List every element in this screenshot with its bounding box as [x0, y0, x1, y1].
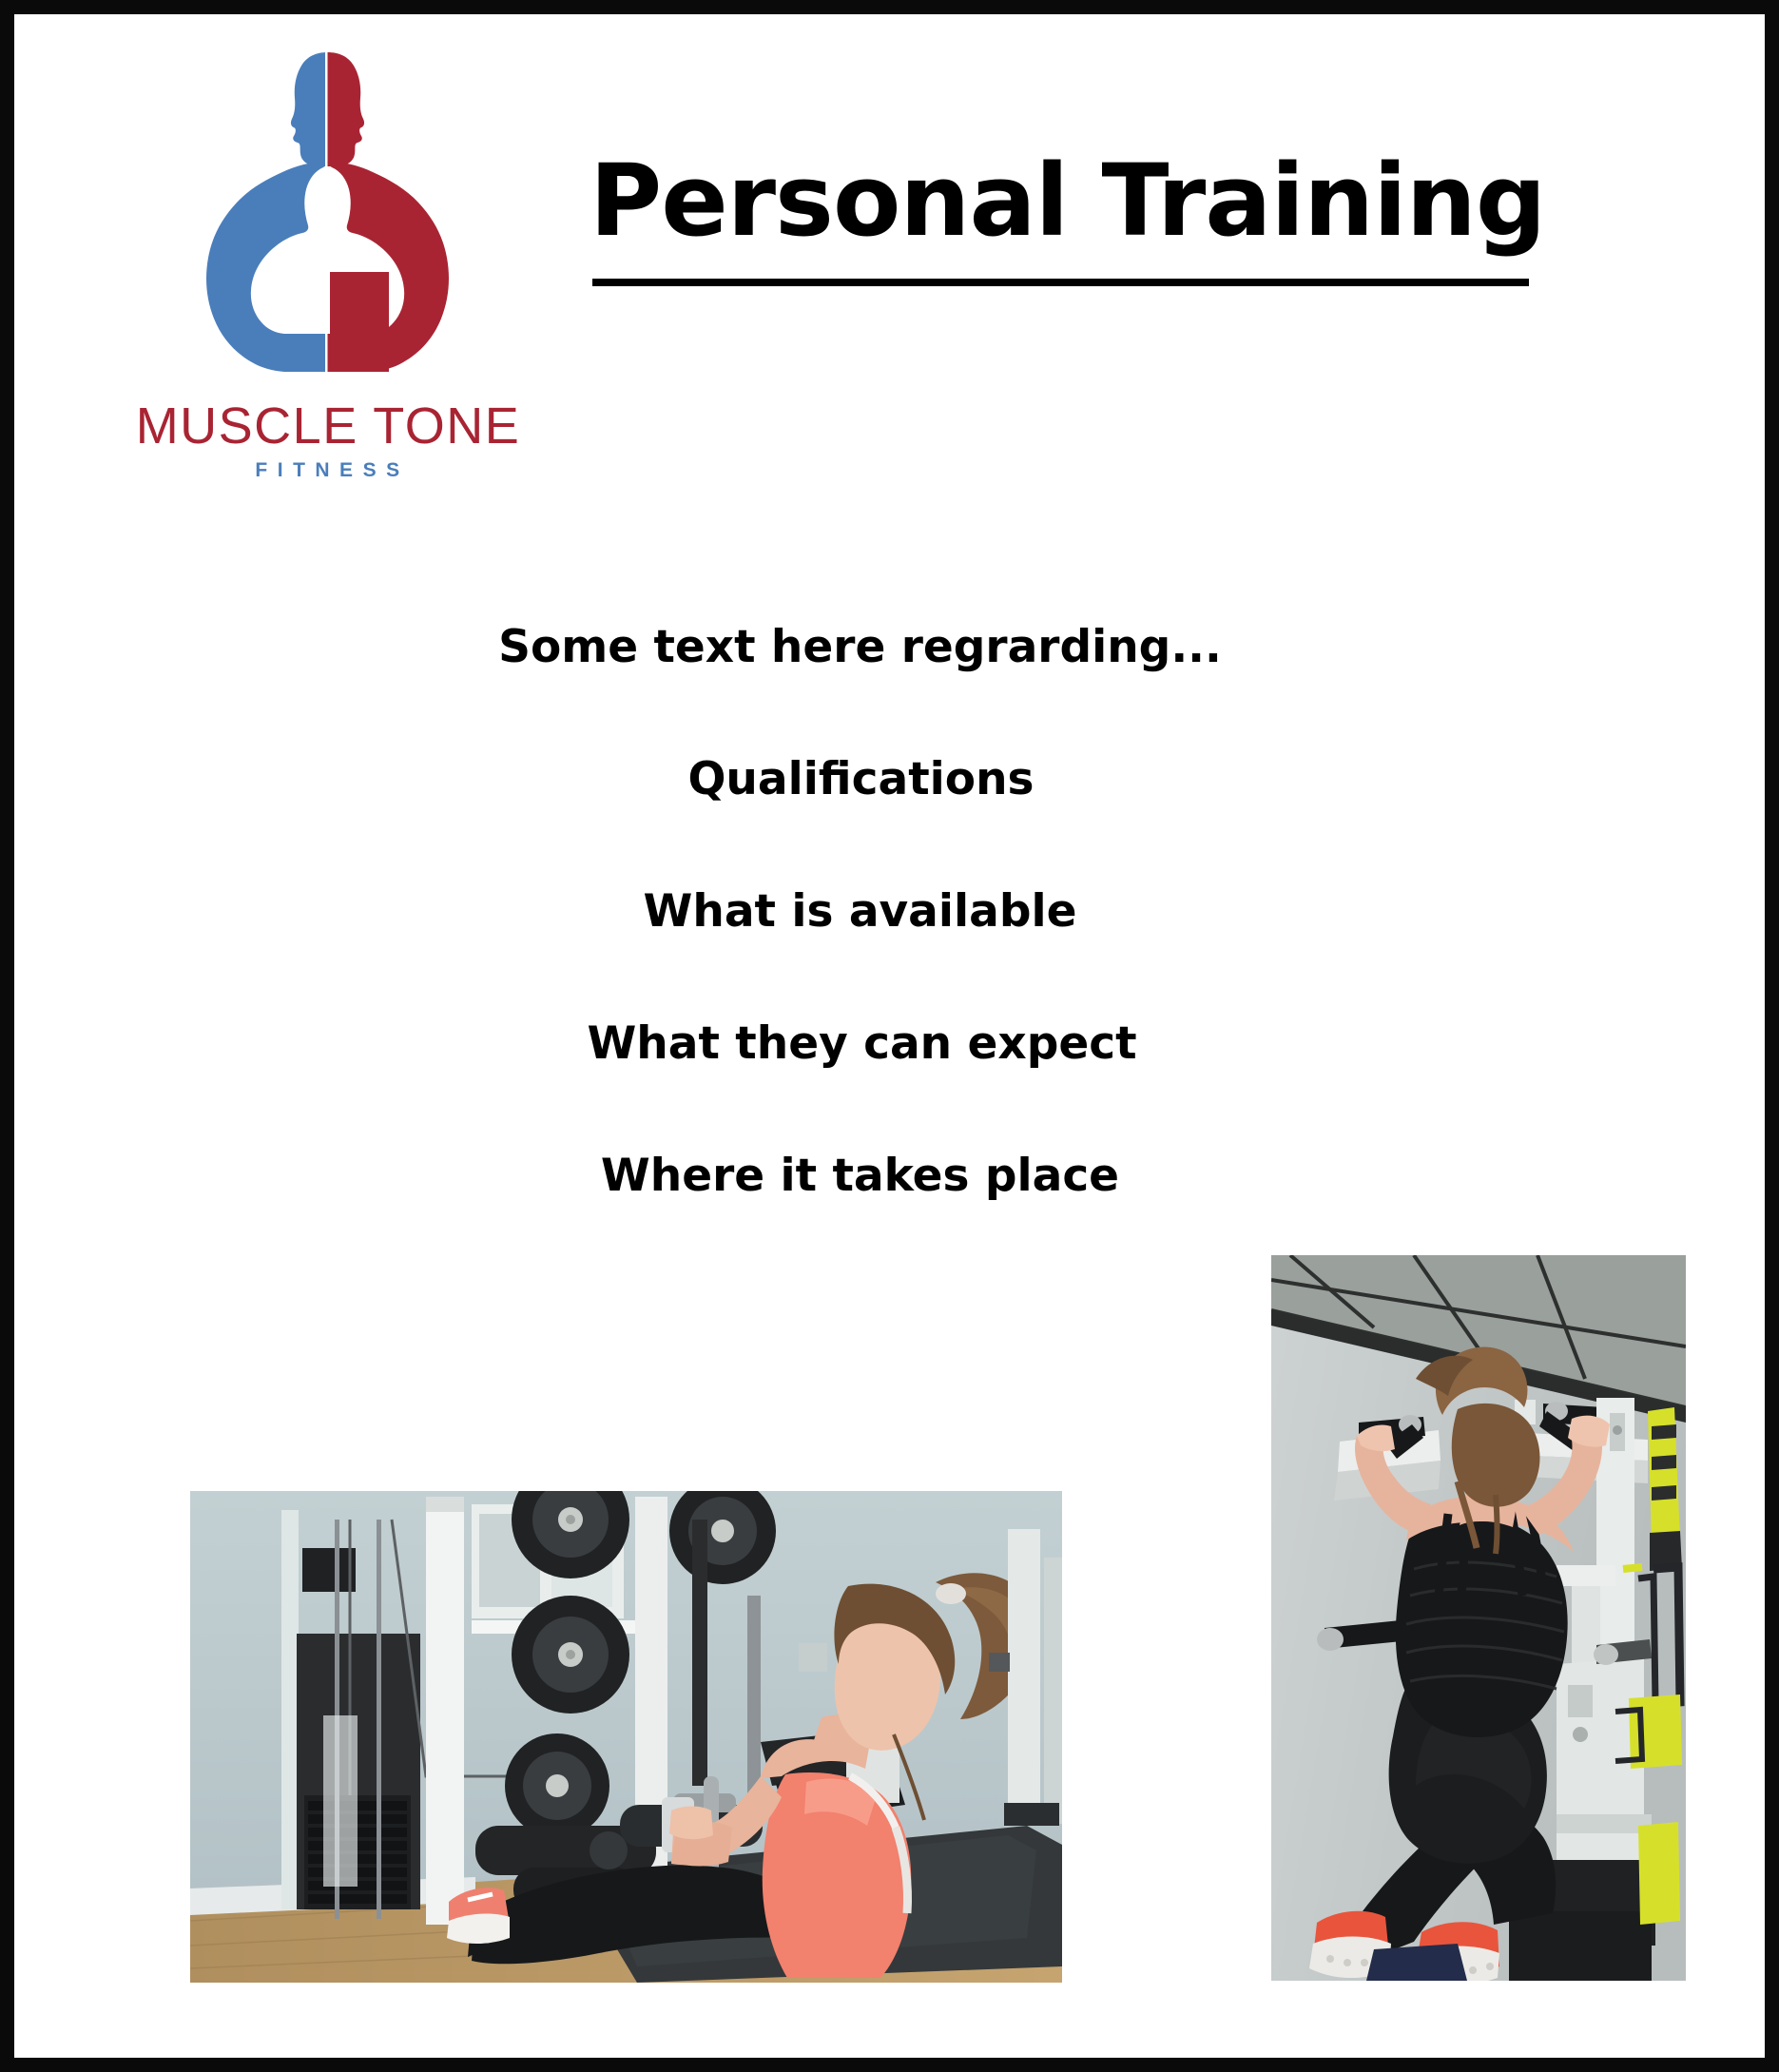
body-line-1: Some text here regrarding...	[14, 625, 1765, 669]
photo-assisted-pull-up	[1271, 1255, 1686, 1981]
brand-logo: MUSCLE TONE FITNESS	[128, 31, 528, 516]
body-line-5: Where it takes place	[14, 1153, 1765, 1198]
muscle-tone-figures-icon	[149, 31, 506, 402]
body-text-list: Some text here regrarding... Qualificati…	[14, 625, 1765, 1198]
brand-tagline: FITNESS	[128, 459, 528, 482]
body-line-3: What is available	[14, 889, 1765, 934]
poster-page: MUSCLE TONE FITNESS Personal Training So…	[0, 0, 1779, 2072]
brand-wordmark: MUSCLE TONE FITNESS	[128, 400, 528, 482]
body-line-4: What they can expect	[14, 1021, 1765, 1066]
photo-seated-row-machine	[190, 1491, 1062, 1983]
page-title-underline	[592, 279, 1529, 286]
page-title: Personal Training	[590, 147, 1531, 254]
poster-sheet: MUSCLE TONE FITNESS Personal Training So…	[14, 14, 1765, 2058]
body-line-2: Qualifications	[14, 757, 1765, 802]
brand-name: MUSCLE TONE	[128, 400, 528, 453]
